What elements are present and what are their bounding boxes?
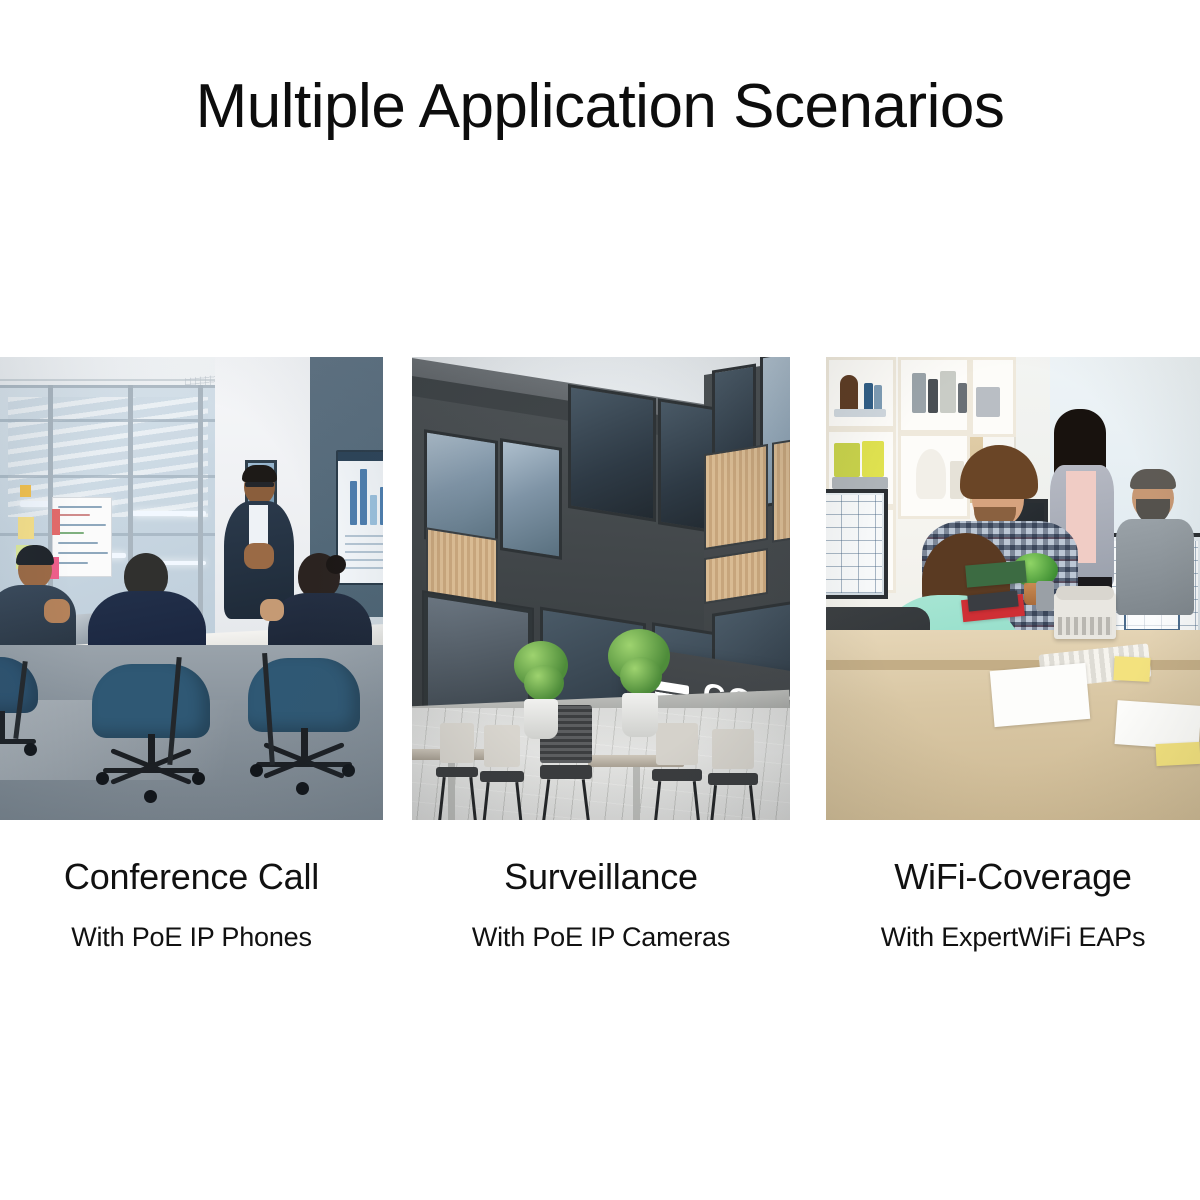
scenario-card-conference-call[interactable]: Conference Call With PoE IP Phones: [0, 357, 383, 953]
scenario-card-wifi-coverage[interactable]: WiFi-Coverage With ExpertWiFi EAPs: [826, 357, 1200, 953]
scenario-image-conference-call: [0, 357, 383, 820]
scenario-title-surveillance: Surveillance: [412, 857, 790, 897]
scenario-title-conference-call: Conference Call: [0, 857, 383, 897]
page-title: Multiple Application Scenarios: [0, 74, 1200, 139]
scenario-card-row: Conference Call With PoE IP Phones: [0, 357, 1200, 957]
scenario-card-surveillance[interactable]: COFFEE HOUSE PREMIUM ARABICA: [412, 357, 790, 953]
scenario-title-wifi-coverage: WiFi-Coverage: [826, 857, 1200, 897]
slide-root: Multiple Application Scenarios: [0, 0, 1200, 1200]
scenario-subtitle-wifi-coverage: With ExpertWiFi EAPs: [826, 922, 1200, 953]
scenario-subtitle-surveillance: With PoE IP Cameras: [412, 922, 790, 953]
scenario-image-wifi-coverage: [826, 357, 1200, 820]
scenario-image-surveillance: COFFEE HOUSE PREMIUM ARABICA: [412, 357, 790, 820]
scenario-subtitle-conference-call: With PoE IP Phones: [0, 922, 383, 953]
